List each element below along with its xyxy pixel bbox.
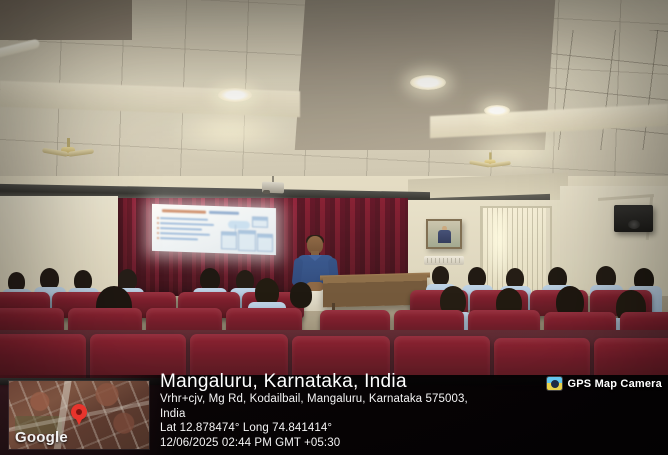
slide-bullet-line	[160, 232, 210, 236]
gps-map-camera-icon	[547, 377, 562, 390]
gps-address-line-1: Vrhr+cjv, Mg Rd, Kodailbail, Mangaluru, …	[160, 392, 660, 406]
slide-content	[156, 207, 272, 252]
slide-bullet-dot	[157, 217, 159, 219]
gps-map-camera-label: GPS Map Camera	[567, 378, 662, 390]
wall-speaker	[614, 205, 653, 232]
gps-address-line-2: India	[160, 407, 660, 421]
framed-portrait	[426, 219, 462, 249]
slide-bullet-dot	[157, 222, 159, 224]
ceiling-shadow-left	[0, 0, 132, 40]
speaker-cone	[628, 220, 640, 229]
ceiling-glow-left	[165, 108, 295, 152]
downlight-1	[218, 88, 252, 102]
slide-diagram-box	[221, 231, 237, 250]
slide-bullet-line	[160, 237, 198, 240]
downlight-3	[484, 105, 510, 116]
gps-map-camera-overlay: Google Mangaluru, Karnataka, India Vrhr+…	[0, 375, 668, 455]
slide-diagram-box	[257, 234, 273, 253]
map-thumbnail[interactable]: Google	[9, 381, 149, 449]
slide-title-bar	[162, 209, 206, 213]
projection-screen	[152, 204, 276, 255]
slide-diagram-box	[238, 230, 256, 252]
google-logo: Google	[15, 429, 68, 446]
slide-diagram-box	[252, 216, 268, 228]
screenshot-root: Google Mangaluru, Karnataka, India Vrhr+…	[0, 0, 668, 455]
slide-bullet-line	[160, 217, 208, 220]
slide-cloud-shape	[228, 220, 250, 229]
slide-subtitle-bar	[209, 211, 239, 215]
map-pin-icon	[71, 404, 87, 425]
slide-bullet-line	[160, 227, 202, 230]
false-ceiling	[0, 0, 668, 190]
portrait-canvas	[428, 221, 460, 247]
slide-bullet-dot	[157, 232, 159, 234]
gps-map-camera-watermark: GPS Map Camera	[547, 377, 662, 390]
ceiling-fan-left	[45, 138, 91, 164]
ceiling-fan-right	[474, 152, 506, 171]
gps-timestamp: 12/06/2025 02:44 PM GMT +05:30	[160, 436, 660, 450]
portrait-figure	[438, 230, 451, 243]
slide-connector	[235, 225, 236, 232]
audience-head	[290, 282, 312, 308]
projector-lens	[263, 190, 270, 194]
downlight-2	[410, 75, 446, 90]
gps-coordinates: Lat 12.878474° Long 74.841414°	[160, 421, 660, 435]
slide-bullet-dot	[157, 237, 159, 239]
slide-bullet-dot	[157, 227, 159, 229]
slide-bullet-line	[160, 222, 214, 226]
